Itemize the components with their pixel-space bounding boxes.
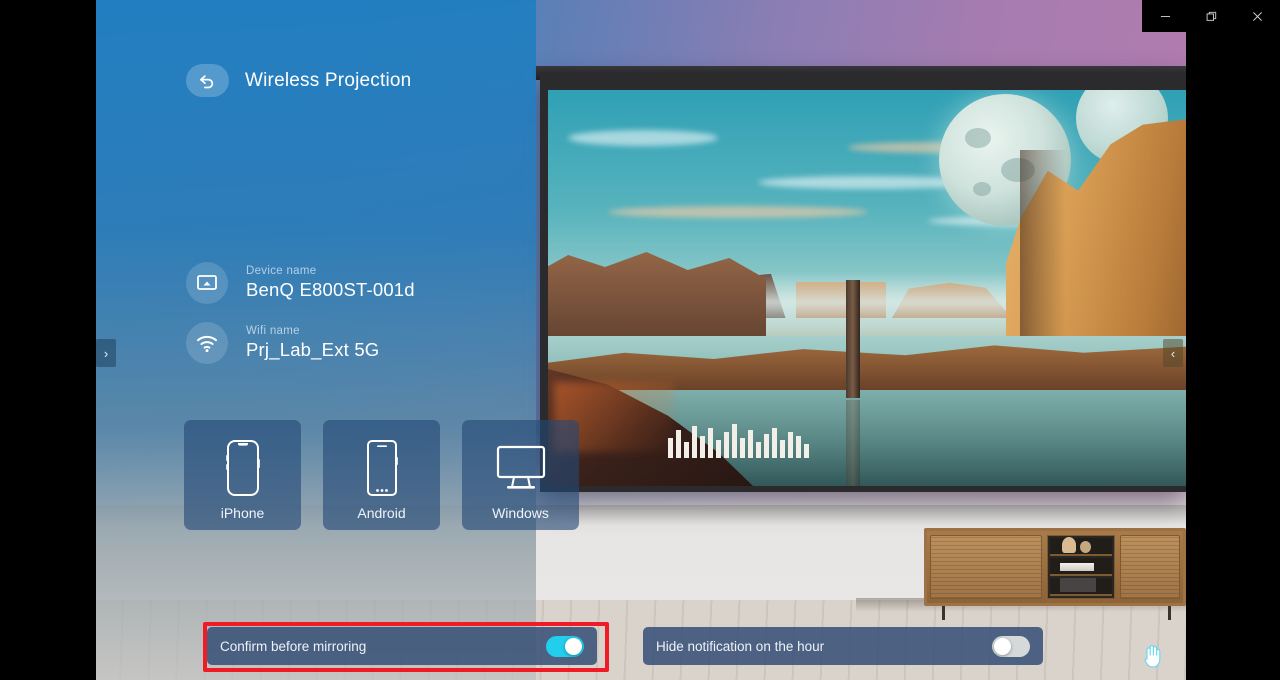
projected-image [548, 90, 1186, 486]
crater [973, 182, 991, 196]
toggle-knob [565, 638, 582, 655]
toggle-confirm-before-mirroring[interactable] [546, 636, 584, 657]
cloud [568, 130, 718, 146]
credenza-door-left [930, 535, 1042, 599]
device-name-label: Device name [246, 265, 415, 277]
credenza-furniture [924, 528, 1186, 606]
cloud [608, 206, 868, 218]
tile-android[interactable]: Android [323, 420, 440, 530]
rock-tower [846, 280, 860, 398]
arrow-left-glyph: › [104, 346, 108, 361]
wifi-name-value: Prj_Lab_Ext 5G [246, 339, 379, 361]
back-button[interactable] [186, 64, 229, 97]
tile-iphone-label: iPhone [221, 505, 265, 521]
header-row: Wireless Projection [186, 64, 411, 97]
tile-windows[interactable]: Windows [462, 420, 579, 530]
monitor-icon [494, 437, 548, 499]
credenza-leg-left [942, 606, 945, 620]
wifi-icon [186, 322, 228, 364]
basket-icon [1060, 578, 1096, 592]
books-icon [1060, 563, 1094, 571]
wifi-name-label: Wifi name [246, 325, 379, 337]
rock-tower-reflection [846, 400, 860, 486]
switch-hide-label: Hide notification on the hour [656, 639, 824, 654]
platform-tiles: iPhone Android [184, 420, 579, 530]
back-arrow-icon [197, 70, 218, 91]
window-controls [1142, 0, 1280, 32]
shelf-mid [1050, 558, 1112, 576]
restore-icon [1206, 11, 1217, 22]
tile-windows-label: Windows [492, 505, 549, 521]
previous-arrow-button[interactable]: › [96, 339, 116, 367]
switch-confirm-label: Confirm before mirroring [220, 639, 366, 654]
device-name-row: Device name BenQ E800ST-001d [186, 262, 415, 304]
white-city-formation [666, 396, 826, 458]
tile-android-label: Android [357, 505, 405, 521]
android-icon [355, 437, 409, 499]
credenza-leg-right [1168, 606, 1171, 620]
close-icon [1252, 11, 1263, 22]
wireless-projection-app: ‹ Wireless Projection [96, 0, 1186, 680]
crater [965, 128, 991, 148]
arrow-right-glyph: ‹ [1171, 346, 1175, 361]
vase-small-icon [1080, 541, 1091, 553]
toggle-hide-notification[interactable] [992, 636, 1030, 657]
switch-confirm-before-mirroring[interactable]: Confirm before mirroring [207, 627, 597, 665]
cast-screen-icon [186, 262, 228, 304]
hand-cursor [1142, 643, 1162, 669]
shelf-bottom [1050, 578, 1112, 596]
iphone-icon [216, 437, 270, 499]
shelf-top [1050, 538, 1112, 556]
toggle-knob [994, 638, 1011, 655]
credenza-open-shelves [1047, 535, 1115, 599]
next-arrow-button[interactable]: ‹ [1163, 339, 1183, 367]
tile-iphone[interactable]: iPhone [184, 420, 301, 530]
control-panel: Wireless Projection Device name BenQ E80… [96, 0, 536, 680]
vase-icon [1062, 537, 1076, 553]
wifi-name-text: Wifi name Prj_Lab_Ext 5G [246, 325, 379, 361]
minimize-button[interactable] [1143, 0, 1187, 32]
device-name-value: BenQ E800ST-001d [246, 279, 415, 301]
device-name-text: Device name BenQ E800ST-001d [246, 265, 415, 301]
screen-root: ‹ Wireless Projection [0, 0, 1280, 680]
page-title: Wireless Projection [245, 70, 411, 92]
minimize-icon [1160, 11, 1171, 22]
credenza-door-right [1120, 535, 1180, 599]
close-button[interactable] [1235, 0, 1279, 32]
wifi-name-row: Wifi name Prj_Lab_Ext 5G [186, 322, 379, 364]
restore-button[interactable] [1189, 0, 1233, 32]
switch-hide-notification[interactable]: Hide notification on the hour [643, 627, 1043, 665]
